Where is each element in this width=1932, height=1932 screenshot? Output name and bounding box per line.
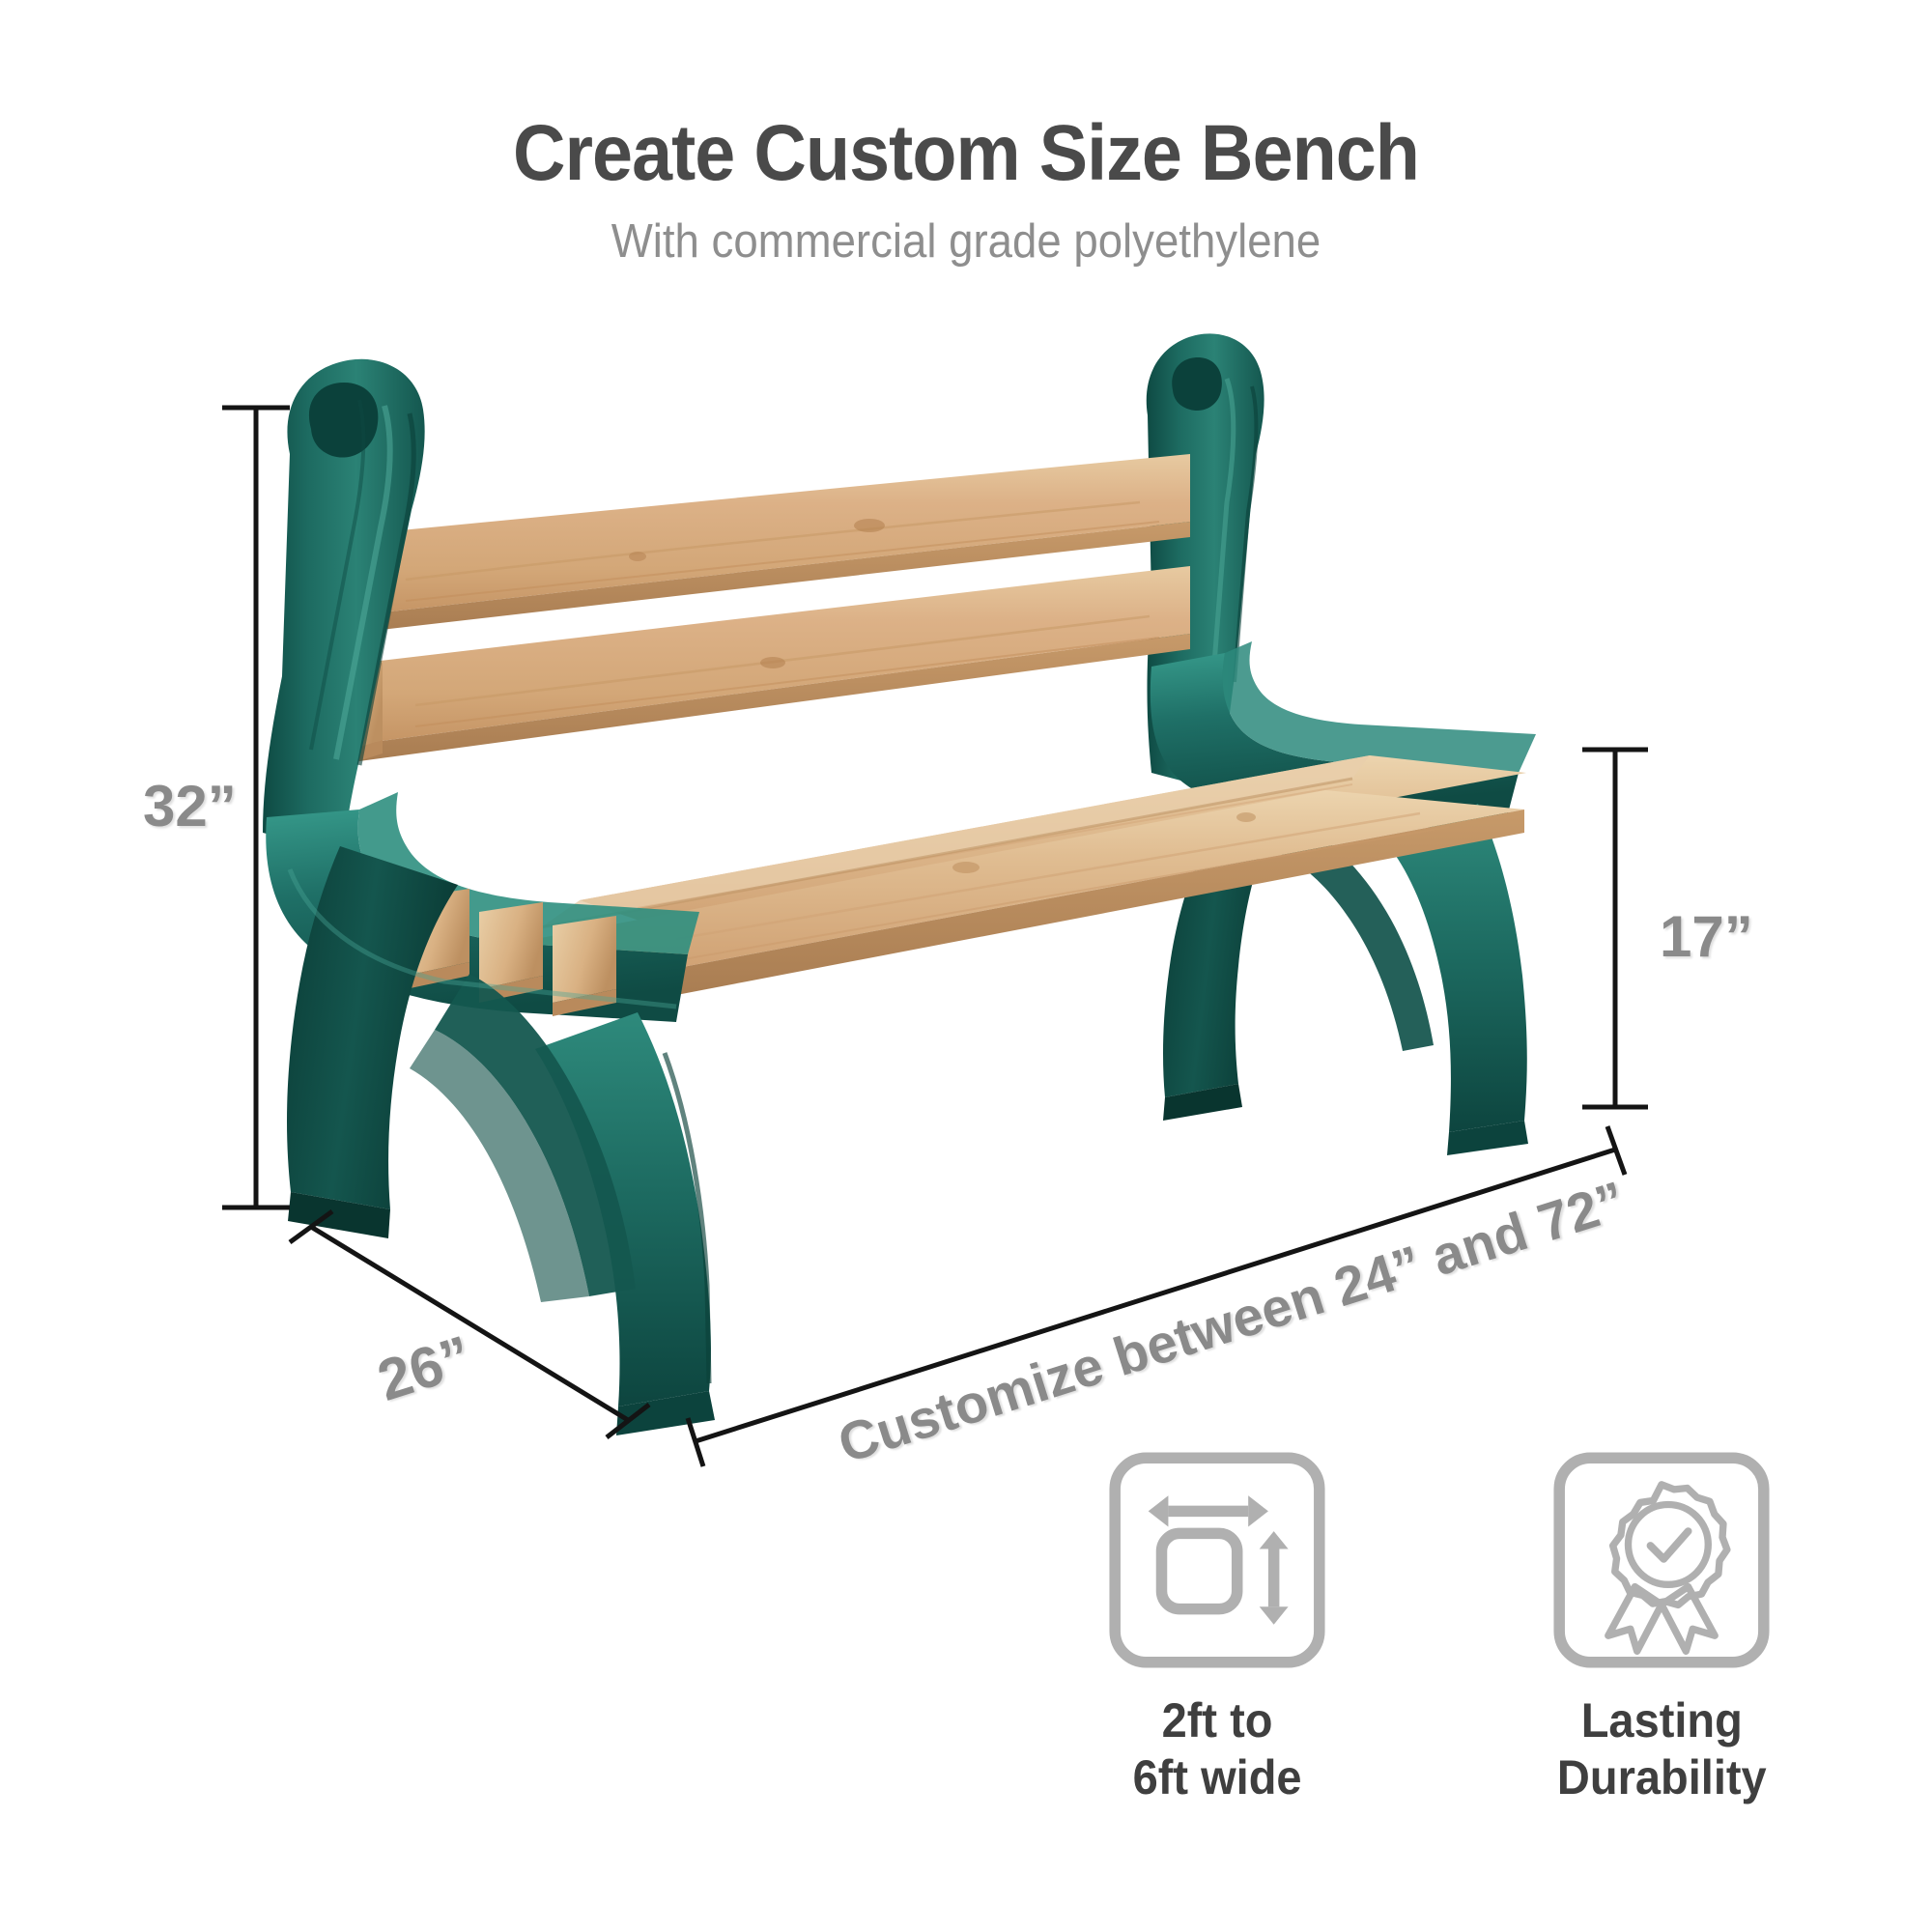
bench-back-slats <box>330 454 1190 765</box>
feature-durability-line2: Durability <box>1557 1749 1767 1806</box>
feature-size-range-label: 2ft to 6ft wide <box>1133 1692 1302 1806</box>
back-slat-upper-knot-2 <box>629 552 646 561</box>
right-frame-scroll-loop <box>1172 357 1222 411</box>
feature-durability-label: Lasting Durability <box>1557 1692 1767 1806</box>
back-slat-upper-knot <box>854 519 885 532</box>
seat-end-block-3 <box>553 916 616 1003</box>
back-slat-lower-knot <box>760 657 785 668</box>
left-frame-scroll-loop <box>309 383 378 458</box>
feature-size-range-line1: 2ft to <box>1133 1692 1302 1749</box>
bench-frame-right <box>1147 333 1536 1155</box>
dimension-label-height: 32” <box>143 773 237 839</box>
resize-dimensions-icon <box>1106 1449 1328 1671</box>
feature-size-range: 2ft to 6ft wide <box>1043 1449 1391 1806</box>
dimension-line-seat-height <box>1582 750 1648 1107</box>
dimension-line-width <box>688 1126 1625 1466</box>
feature-durability: Lasting Durability <box>1488 1449 1835 1806</box>
seat-knot-1 <box>952 862 980 873</box>
feature-badges: 2ft to 6ft wide Lasting Durability <box>1043 1449 1835 1806</box>
feature-durability-line1: Lasting <box>1557 1692 1767 1749</box>
seat-end-block-2 <box>479 902 543 989</box>
dimension-label-seat-height: 17” <box>1660 903 1753 970</box>
feature-size-range-line2: 6ft wide <box>1133 1749 1302 1806</box>
seat-knot-2 <box>1236 812 1256 822</box>
infographic-page: Create Custom Size Bench With commercial… <box>0 0 1932 1932</box>
award-ribbon-icon <box>1550 1449 1773 1671</box>
